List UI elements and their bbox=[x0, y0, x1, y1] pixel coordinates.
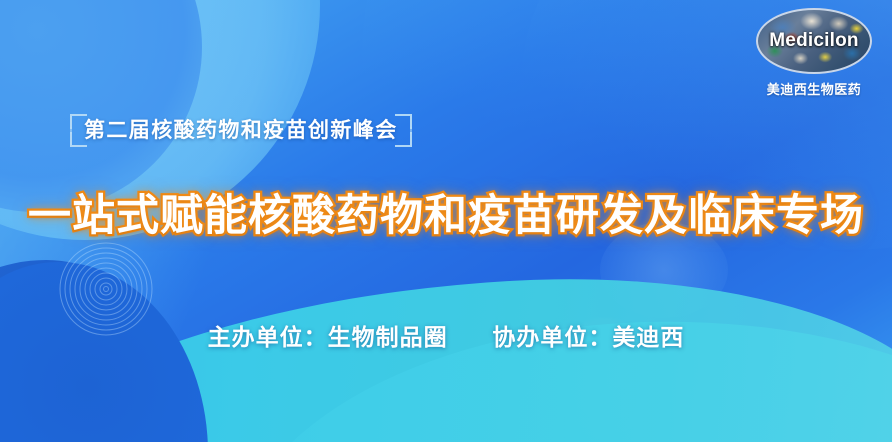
deep-blue-blob-foreground-bottom-left bbox=[0, 262, 208, 442]
summit-subtitle-frame: 第二届核酸药物和疫苗创新峰会 bbox=[70, 114, 412, 147]
logo-oval-capsule-photo-icon: Medicilon bbox=[756, 8, 872, 74]
event-banner: Medicilon 美迪西生物医药 第二届核酸药物和疫苗创新峰会 一站式赋能核酸… bbox=[0, 0, 892, 442]
medicilon-logo: Medicilon 美迪西生物医药 bbox=[750, 8, 878, 98]
bracket-edge-right bbox=[410, 127, 412, 134]
host-organiser: 主办单位：生物制品圈 bbox=[208, 324, 448, 350]
organisers-line: 主办单位：生物制品圈 协办单位：美迪西 bbox=[0, 318, 892, 352]
summit-subtitle: 第二届核酸药物和疫苗创新峰会 bbox=[84, 120, 398, 141]
bracket-corner-bottom-right-icon bbox=[395, 132, 412, 147]
logo-wordmark: Medicilon bbox=[758, 30, 870, 52]
page-title: 一站式赋能核酸药物和疫苗研发及临床专场 bbox=[0, 193, 892, 239]
co-organiser: 协办单位：美迪西 bbox=[492, 324, 684, 350]
blue-circle-top-left bbox=[0, 0, 202, 212]
bracket-corner-bottom-left-icon bbox=[70, 132, 87, 147]
bracket-edge-left bbox=[70, 127, 72, 134]
logo-chinese-name: 美迪西生物医药 bbox=[750, 79, 878, 98]
bracket-corner-top-left-icon bbox=[70, 114, 87, 129]
